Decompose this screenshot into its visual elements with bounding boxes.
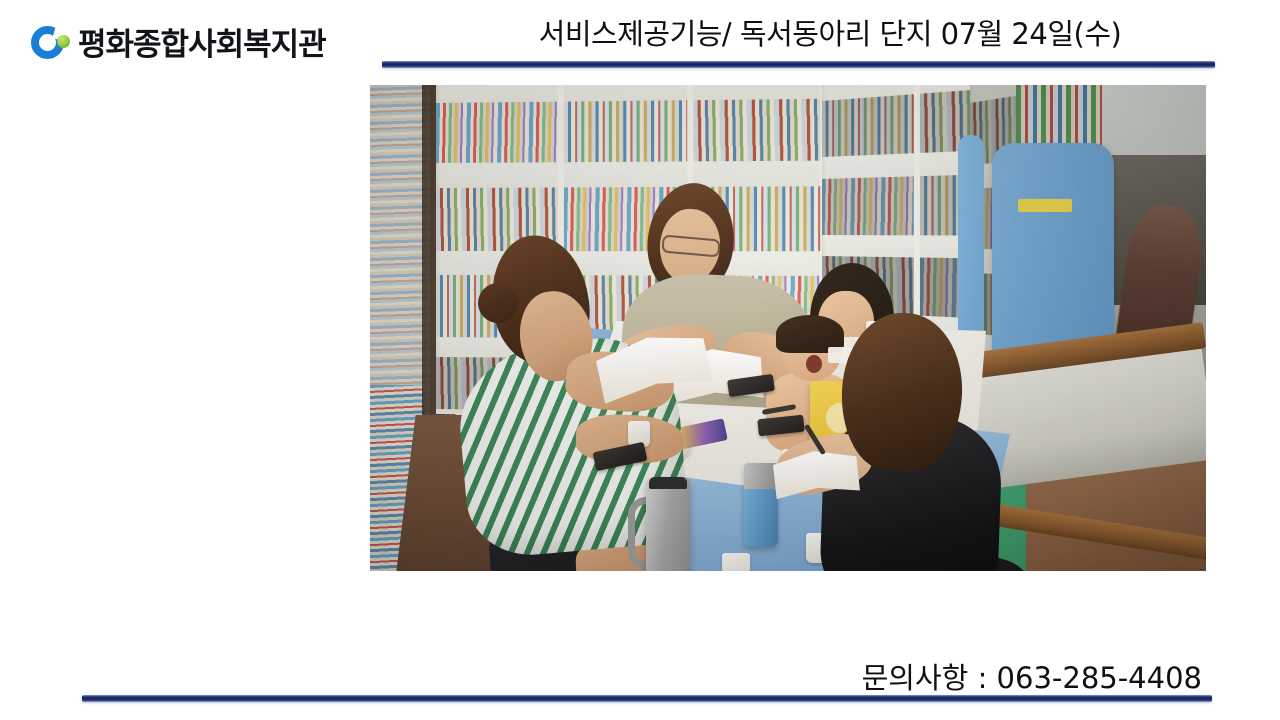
shelf-cell (694, 85, 827, 161)
books (822, 176, 914, 235)
logo-green-dot-icon (57, 35, 70, 48)
shelf-cell (822, 85, 920, 157)
books (436, 101, 558, 163)
books (564, 100, 688, 162)
shelf-cell (436, 85, 564, 163)
page-title: 서비스제공기능/ 독서동아리 단지 07월 24일(수) (440, 18, 1220, 51)
header-divider-rule (382, 61, 1215, 68)
books (822, 94, 914, 157)
organization-name: 평화종합사회복지관 (78, 30, 326, 61)
brand-lockup: 평화종합사회복지관 (30, 22, 326, 68)
thermos-flask (646, 477, 690, 571)
slide-header: 평화종합사회복지관 서비스제공기능/ 독서동아리 단지 07월 24일(수) (0, 0, 1280, 80)
paper-cup (722, 553, 750, 571)
blue-tumbler (744, 463, 778, 547)
slide-canvas: 평화종합사회복지관 서비스제공기능/ 독서동아리 단지 07월 24일(수) (0, 0, 1280, 720)
peace-welfare-center-logo-icon (30, 24, 72, 66)
toddler-mouth (806, 355, 822, 373)
footer-divider-rule (82, 695, 1212, 702)
yellow-label-tag (1018, 199, 1072, 212)
photo-scene (370, 85, 1206, 571)
shelf-cell (822, 153, 920, 235)
contact-info: 문의사항 : 063-285-4408 (862, 655, 1202, 697)
person-striped-shirt-hair-bun (478, 283, 518, 323)
books (694, 98, 820, 161)
shelf-cell (564, 85, 694, 162)
activity-photo (370, 85, 1206, 571)
